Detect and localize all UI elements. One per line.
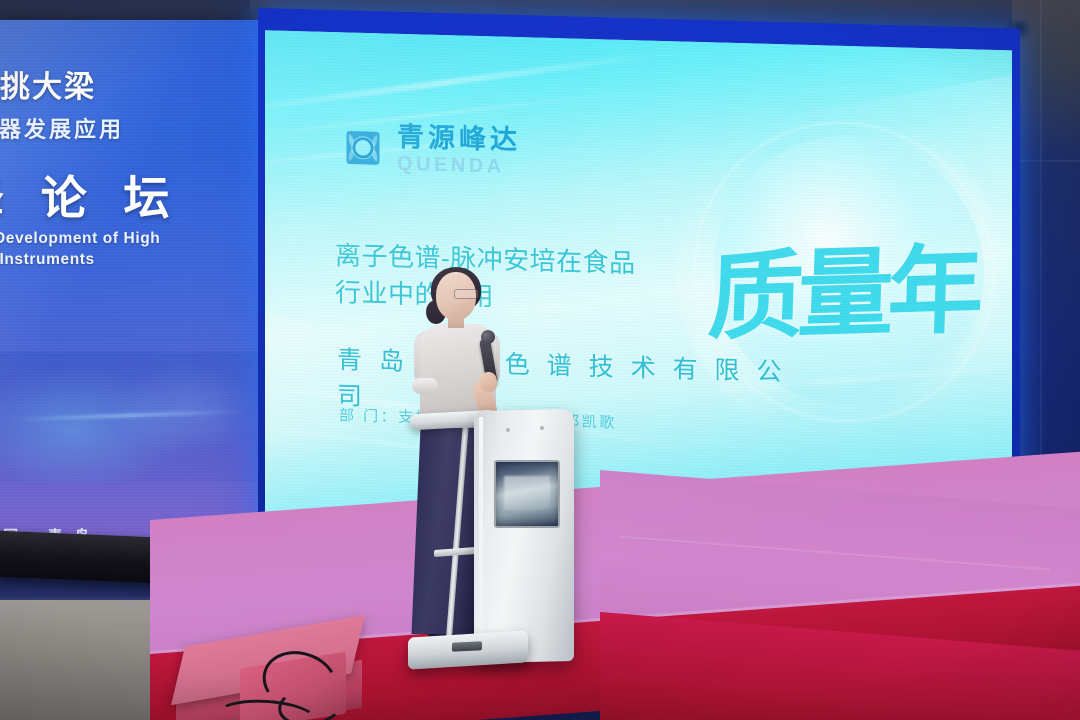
logo-english-name: QUENDA xyxy=(397,154,521,177)
wall-right-panel xyxy=(1012,0,1080,530)
banner-photo-strip xyxy=(0,352,260,482)
rollup-banner: 器挑大梁 仪器发展应用 峰 论 坛 the Development of Hig… xyxy=(0,20,260,540)
led-display-area: 质量年 青源峰达 xyxy=(265,30,1012,538)
presenter-left-sleeve xyxy=(412,378,438,394)
company-logo: 青源峰达 QUENDA xyxy=(341,122,521,177)
quenda-logo-icon xyxy=(341,125,385,170)
podium-base-detail xyxy=(452,641,482,652)
podium xyxy=(408,406,588,672)
presenter-glasses xyxy=(454,289,478,299)
conference-stage-photo: 器挑大梁 仪器发展应用 峰 论 坛 the Development of Hig… xyxy=(0,0,1080,720)
podium-body xyxy=(474,409,574,663)
banner-english-line-2: tific Instruments xyxy=(0,251,260,269)
banner-english-line-1: the Development of High xyxy=(0,230,260,248)
banner-forum-title: 峰 论 坛 xyxy=(0,162,258,228)
department-label: 部 门： xyxy=(339,407,398,426)
presentation-slide: 质量年 青源峰达 xyxy=(265,30,1012,538)
banner-headline: 器挑大梁 xyxy=(0,62,260,106)
logo-chinese-name: 青源峰达 xyxy=(397,124,521,154)
banner-subhead: 仪器发展应用 xyxy=(0,112,260,144)
wall-seam xyxy=(1040,0,1042,500)
podium-sensor-dot xyxy=(540,426,544,430)
podium-sensor-dot xyxy=(506,428,510,432)
slide-light-ray xyxy=(265,51,666,117)
podium-display xyxy=(494,460,560,528)
wall-seam-horizontal xyxy=(1012,160,1080,162)
